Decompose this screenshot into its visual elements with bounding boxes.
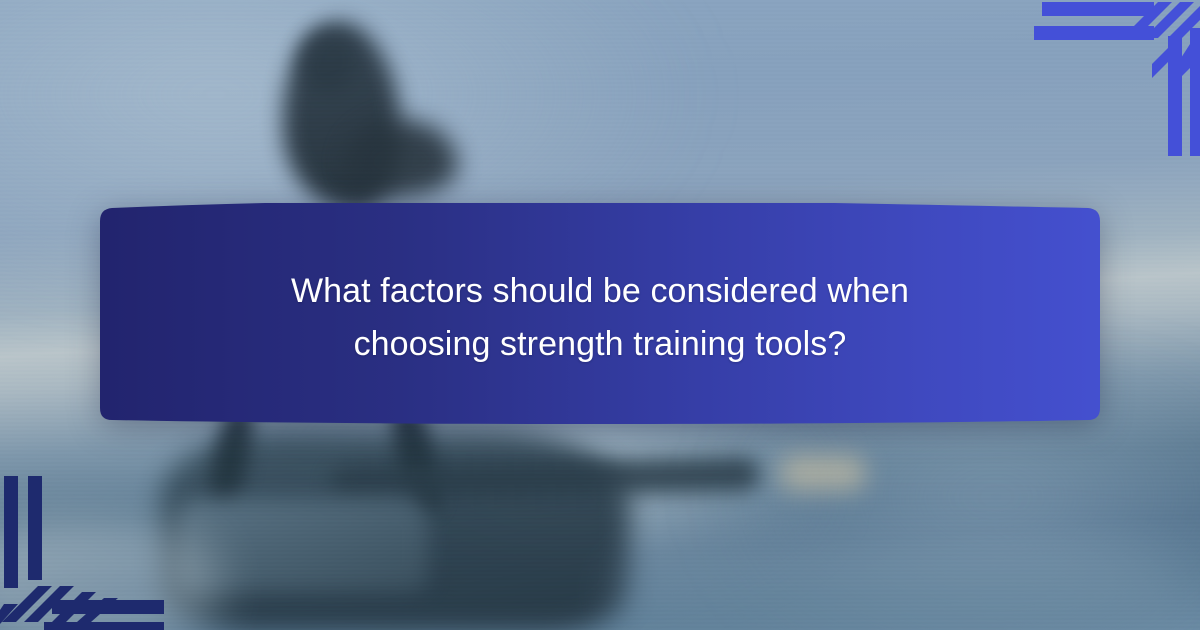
corner-ornament-bottom-left — [0, 464, 176, 630]
question-card-canvas: What factors should be considered when c… — [0, 0, 1200, 630]
question-line-2: choosing strength training tools? — [354, 322, 847, 367]
question-banner: What factors should be considered when c… — [100, 203, 1100, 425]
apparatus-highlight — [780, 455, 866, 491]
question-line-1: What factors should be considered when — [291, 269, 909, 314]
corner-ornament-top-right — [1032, 0, 1200, 160]
question-text-block: What factors should be considered when c… — [100, 203, 1100, 425]
floor-blur-right — [620, 536, 1180, 630]
